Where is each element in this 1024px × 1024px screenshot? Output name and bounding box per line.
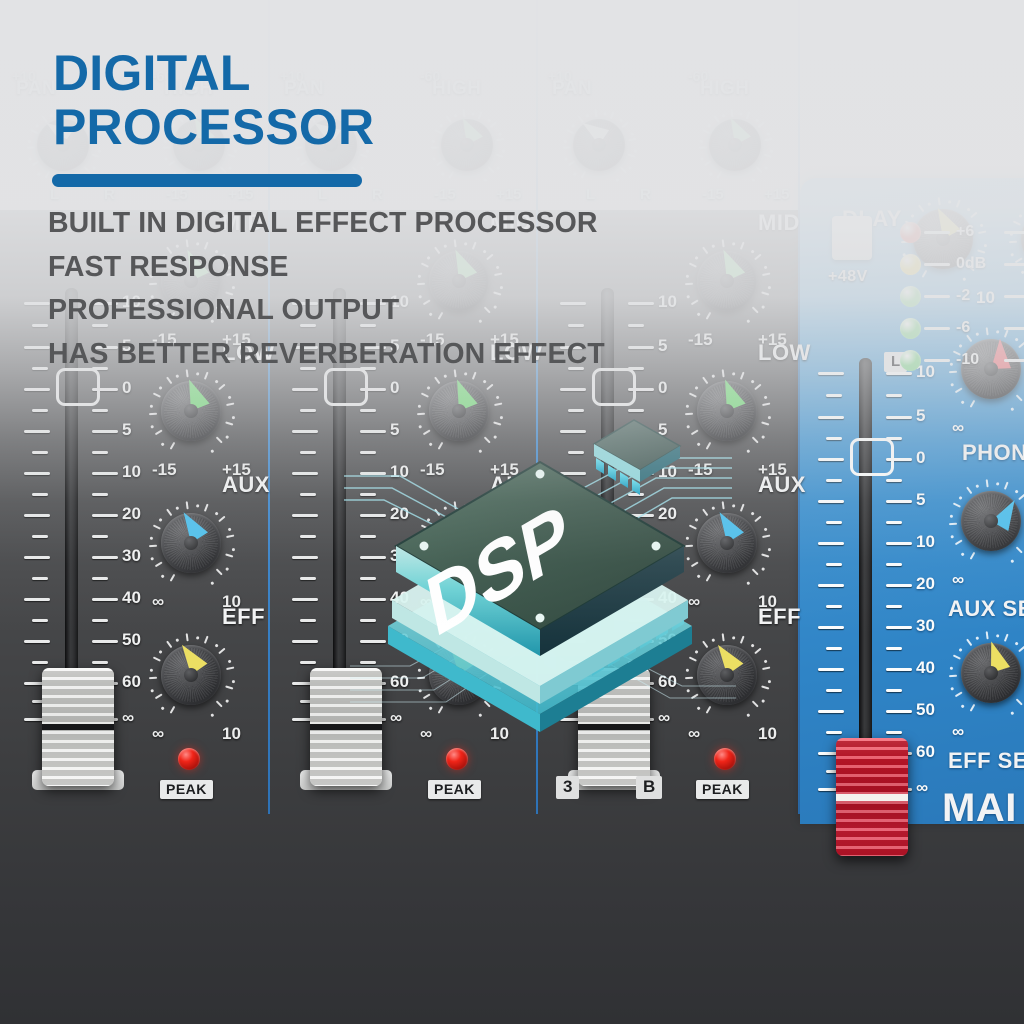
fader-tick-minor	[300, 409, 316, 412]
knob-label-aux: AUX	[758, 472, 806, 498]
fader-tick-minor	[300, 451, 316, 454]
fader-tick-minor	[92, 577, 108, 580]
master-fader-tick	[818, 668, 844, 671]
rotary-knob[interactable]	[148, 632, 234, 718]
fader-tick-minor	[32, 577, 48, 580]
meter-led-bar	[924, 231, 950, 234]
master-fader-tick-minor	[886, 563, 902, 566]
master-fader-scale-value: 30	[916, 616, 935, 636]
knob-label-eff-send: EFF SEN	[948, 748, 1024, 774]
fader-tick	[24, 556, 50, 559]
fader-cap-line	[42, 724, 114, 730]
knob-cap	[184, 668, 198, 682]
pan-left-label: L	[318, 186, 327, 203]
pan-left-label: L	[50, 186, 59, 203]
fader-tick-minor	[628, 324, 644, 327]
fader-tick-minor	[32, 451, 48, 454]
rotary-knob[interactable]	[684, 238, 770, 324]
fader-tick	[24, 430, 50, 433]
fader-tick	[628, 346, 654, 349]
knob-label-eff: EFF	[222, 604, 265, 630]
master-fader-tick	[886, 500, 912, 503]
fader-tick-minor	[92, 493, 108, 496]
fader-scale-value: 10	[658, 292, 677, 312]
headline-line-1: DIGITAL	[53, 46, 374, 100]
fader-tick	[292, 388, 318, 391]
knob-label-phone: PHONE	[962, 440, 1024, 466]
fader-scale-value: 30	[122, 546, 141, 566]
peak-led	[714, 748, 736, 770]
master-fader-tick-minor	[826, 731, 842, 734]
fader-tick-minor	[92, 619, 108, 622]
fader-tick	[292, 640, 318, 643]
knob-label-pan: PAN	[16, 78, 56, 100]
meter-led	[900, 318, 921, 339]
knob-label-aux-send: AUX SEN	[948, 596, 1024, 622]
high-left-label: -15	[166, 186, 188, 203]
master-fader-tick-minor	[886, 479, 902, 482]
rotary-knob[interactable]	[148, 368, 234, 454]
pan-right-label: R	[640, 186, 651, 203]
master-fader-tick-minor	[826, 521, 842, 524]
master-fader-scale-value: 5	[916, 490, 925, 510]
master-fader-tick	[886, 372, 912, 375]
master-fader-tick-minor	[886, 731, 902, 734]
page-title: DIGITAL PROCESSOR	[53, 46, 374, 154]
fader-tick	[628, 302, 654, 305]
fader-tick	[292, 430, 318, 433]
master-fader-tick	[818, 372, 844, 375]
fader-tick-minor	[92, 661, 108, 664]
fader-scale-value: 60	[122, 672, 141, 692]
knob-cap	[184, 536, 198, 550]
knob-label-eff: EFF	[758, 604, 801, 630]
master-fader-tick	[818, 542, 844, 545]
knob-cap	[984, 514, 998, 528]
fader-tick-minor	[300, 493, 316, 496]
fader-tick	[560, 388, 586, 391]
master-fader-tick	[886, 668, 912, 671]
feature-line-2: FAST RESPONSE	[48, 246, 605, 290]
master-fader-tick	[886, 710, 912, 713]
master-fader-tick	[818, 458, 844, 461]
master-fader-tick-minor	[826, 479, 842, 482]
fader-tick-minor	[300, 619, 316, 622]
meter-led-bar-right	[1004, 327, 1024, 330]
master-fader-scale-value: 50	[916, 700, 935, 720]
master-fader[interactable]: 10505102030405060∞	[812, 358, 932, 788]
master-fader-scale-value: 0	[916, 448, 925, 468]
master-fader-tick	[818, 500, 844, 503]
meter-led	[900, 254, 921, 275]
meter-led-bar-right	[1004, 263, 1024, 266]
peak-led	[178, 748, 200, 770]
master-fader-tick-minor	[826, 689, 842, 692]
fader-tick-minor	[32, 493, 48, 496]
fader-scale-value: 0	[122, 378, 131, 398]
fader-tick-minor	[92, 451, 108, 454]
fader-scale-value: 40	[122, 588, 141, 608]
phantom-power-label: +48V	[828, 268, 868, 286]
fader-tick-minor	[300, 661, 316, 664]
fader-tick	[24, 514, 50, 517]
dlay-max: 10	[976, 288, 995, 308]
fader-tick	[92, 430, 118, 433]
main-label: MAI	[942, 786, 1017, 831]
peak-label: PEAK	[160, 780, 213, 799]
rotary-knob[interactable]	[948, 478, 1024, 564]
master-fader-tick	[886, 584, 912, 587]
master-fader-tick	[886, 626, 912, 629]
fader-tick-minor	[32, 409, 48, 412]
fader-tick-minor	[32, 619, 48, 622]
fader-tick	[92, 514, 118, 517]
feature-line-3: PROFESSIONAL OUTPUT	[48, 289, 605, 333]
master-fader-cap-line	[836, 794, 908, 801]
pan-left-label: L	[586, 186, 595, 203]
rotary-knob[interactable]	[948, 630, 1024, 716]
knob-label-mid: MID	[758, 210, 800, 236]
peak-label: PEAK	[696, 780, 749, 799]
fader-tick	[292, 556, 318, 559]
knob-label-aux: AUX	[222, 472, 270, 498]
knob-min-label: -15	[152, 460, 177, 480]
rotary-knob[interactable]	[148, 500, 234, 586]
pan-right-label: R	[104, 186, 115, 203]
knob-label-high: HIGH	[432, 78, 482, 100]
meter-led-label: +6	[956, 223, 974, 241]
meter-led-bar	[924, 327, 950, 330]
pan-right-label: R	[372, 186, 383, 203]
master-fader-unity-marker	[850, 438, 894, 476]
master-fader-scale-value: 60	[916, 742, 935, 762]
master-fader-tick-minor	[826, 605, 842, 608]
master-fader-tick	[818, 416, 844, 419]
master-fader-tick	[818, 710, 844, 713]
knob-cap	[728, 138, 742, 152]
meter-led	[900, 222, 921, 243]
meter-led	[900, 350, 921, 371]
fader-scale-value: 5	[658, 336, 667, 356]
rotary-knob[interactable]	[562, 108, 636, 182]
master-fader-scale-value: 5	[916, 406, 925, 426]
effsend-min: ∞	[952, 722, 964, 742]
rotary-knob[interactable]	[430, 108, 504, 182]
knob-min-label: -15	[688, 330, 713, 350]
fader-tick-minor	[92, 535, 108, 538]
high-right-label: +15	[496, 186, 521, 203]
fader-tick	[24, 346, 50, 349]
fader-tick	[92, 556, 118, 559]
fader-scale-value: 0	[390, 378, 399, 398]
fader-tick	[24, 472, 50, 475]
fader-cap[interactable]	[42, 668, 114, 786]
master-fader-scale-value: 20	[916, 574, 935, 594]
knob-min-label: ∞	[152, 724, 164, 744]
fader-scale-value: ∞	[122, 708, 134, 728]
master-fader-tick-minor	[826, 394, 842, 397]
feature-line-4: HAS BETTER REVERBERATION EFFECT	[48, 333, 605, 377]
knob-cap	[592, 138, 606, 152]
knob-max-label: 10	[222, 724, 241, 744]
meter-led-bar-right	[1004, 231, 1024, 234]
master-fader-tick-minor	[886, 394, 902, 397]
meter-led-bar	[924, 295, 950, 298]
meter-led-bar	[924, 359, 950, 362]
title-underline-rule	[52, 174, 362, 187]
channel-number-tag: 3	[556, 776, 579, 799]
knob-cap	[460, 138, 474, 152]
master-fader-scale-value: 40	[916, 658, 935, 678]
master-fader-tick-minor	[886, 605, 902, 608]
peak-led	[446, 748, 468, 770]
auxsend-min: ∞	[952, 570, 964, 590]
channel-bus-tag: B	[636, 776, 662, 799]
master-fader-tick	[818, 584, 844, 587]
headline-line-2: PROCESSOR	[53, 100, 374, 154]
high-left-label: -15	[702, 186, 724, 203]
master-fader-tick-minor	[886, 647, 902, 650]
fader-tick	[292, 514, 318, 517]
fader-tick-minor	[32, 535, 48, 538]
peak-label: PEAK	[428, 780, 481, 799]
feature-line-1: BUILT IN DIGITAL EFFECT PROCESSOR	[48, 202, 605, 246]
meter-led-bar	[924, 263, 950, 266]
knob-cap	[720, 274, 734, 288]
master-fader-scale-value: 10	[916, 532, 935, 552]
fader-scale-value: 5	[122, 420, 131, 440]
master-fader-tick	[886, 542, 912, 545]
knob-cap	[936, 232, 950, 246]
meter-led	[900, 286, 921, 307]
fader-tick-minor	[300, 535, 316, 538]
knob-min-label: ∞	[152, 592, 164, 612]
high-right-label: +15	[764, 186, 789, 203]
fader-tick-minor	[32, 661, 48, 664]
master-fader-tick-minor	[826, 437, 842, 440]
fader-tick	[24, 388, 50, 391]
rotary-knob[interactable]	[948, 326, 1024, 412]
rotary-knob[interactable]	[1008, 196, 1024, 282]
phone-min: ∞	[952, 418, 964, 438]
knob-label-pan: PAN	[552, 78, 592, 100]
meter-led-label: -2	[956, 287, 970, 305]
knob-cap	[984, 362, 998, 376]
fader-tick-minor	[32, 324, 48, 327]
knob-max-label: 10	[758, 724, 777, 744]
product-banner: +10-60LRPAN-15+15HIGHMID-15+15LOW-15+15A…	[0, 0, 1024, 1024]
master-fader-tick-minor	[826, 647, 842, 650]
fader-tick-minor	[32, 367, 48, 370]
knob-cap	[184, 404, 198, 418]
feature-list: BUILT IN DIGITAL EFFECT PROCESSORFAST RE…	[48, 202, 605, 376]
rotary-knob[interactable]	[698, 108, 772, 182]
knob-cap	[984, 666, 998, 680]
master-fader-cap[interactable]	[836, 738, 908, 856]
master-fader-tick-minor	[886, 689, 902, 692]
meter-led-label: 0dB	[956, 255, 986, 273]
fader-scale-value: 10	[122, 462, 141, 482]
master-fader-tick-minor	[826, 563, 842, 566]
phantom-power-button[interactable]	[832, 216, 872, 260]
fader-scale-value: 50	[122, 630, 141, 650]
master-fader-tick	[818, 626, 844, 629]
meter-led-bar-right	[1004, 295, 1024, 298]
dsp-chip-illustration: DSP	[340, 398, 740, 728]
fader-tick	[292, 598, 318, 601]
master-fader-tick	[886, 416, 912, 419]
master-fader-scale-value: ∞	[916, 778, 928, 798]
fader-tick	[92, 598, 118, 601]
fader-tick	[92, 472, 118, 475]
knob-label-high: HIGH	[700, 78, 750, 100]
high-right-label: +15	[228, 186, 253, 203]
fader-scale-value: 0	[658, 378, 667, 398]
meter-led-label: -6	[956, 319, 970, 337]
fader-tick	[24, 598, 50, 601]
fader-tick	[24, 302, 50, 305]
fader-tick	[92, 640, 118, 643]
fader-tick	[24, 640, 50, 643]
master-fader-slot	[859, 358, 872, 760]
fader-tick	[292, 472, 318, 475]
meter-led-bar-right	[1004, 359, 1024, 362]
fader-scale-value: 20	[122, 504, 141, 524]
fader-tick-minor	[92, 409, 108, 412]
meter-led-label: -10	[956, 351, 979, 369]
fader-tick-minor	[300, 577, 316, 580]
master-fader-tick-minor	[886, 521, 902, 524]
high-left-label: -15	[434, 186, 456, 203]
